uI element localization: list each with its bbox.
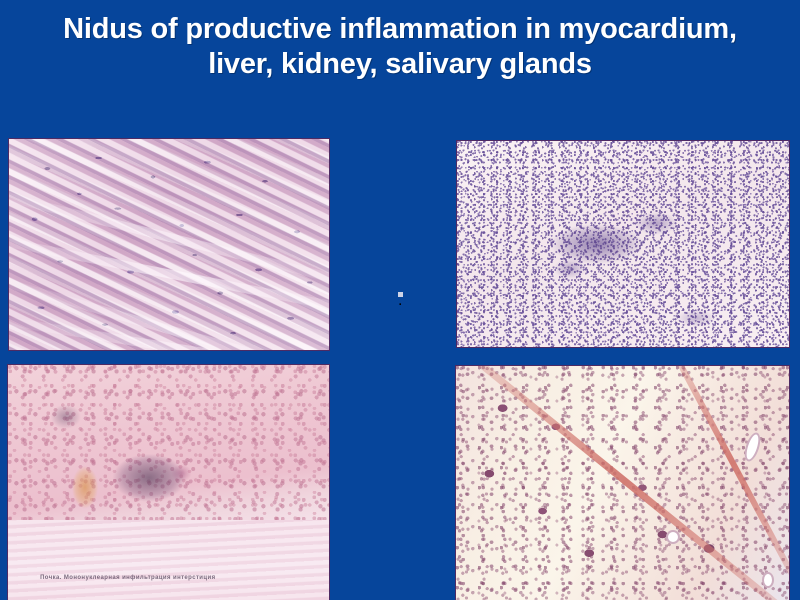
duct-lumen	[741, 430, 763, 463]
salivary-gland-tissue-image	[456, 366, 789, 600]
fibrous-septum	[669, 365, 790, 579]
duct-lumen	[762, 572, 774, 588]
kidney-capsule-band	[8, 520, 329, 600]
muscle-fiber-streak	[8, 232, 330, 317]
micrograph-myocardium[interactable]	[8, 138, 330, 351]
presentation-slide: Nidus of productive inflammation in myoc…	[0, 0, 800, 600]
myocardium-tissue-image	[9, 139, 329, 350]
kidney-tissue-image: Почка. Мононуклеарная инфильтрация интер…	[8, 365, 329, 600]
fibrous-septum	[471, 365, 781, 600]
micrograph-kidney[interactable]: Почка. Мононуклеарная инфильтрация интер…	[7, 364, 330, 600]
muscle-fiber-streak	[8, 270, 330, 351]
micrograph-liver[interactable]	[456, 140, 790, 348]
stray-period-text: .	[398, 292, 403, 297]
page-title: Nidus of productive inflammation in myoc…	[60, 12, 740, 82]
kidney-image-caption: Почка. Мононуклеарная инфильтрация интер…	[40, 575, 215, 582]
micrograph-salivary-gland[interactable]	[455, 365, 790, 600]
duct-lumen	[666, 530, 680, 544]
liver-tissue-image	[457, 141, 789, 347]
